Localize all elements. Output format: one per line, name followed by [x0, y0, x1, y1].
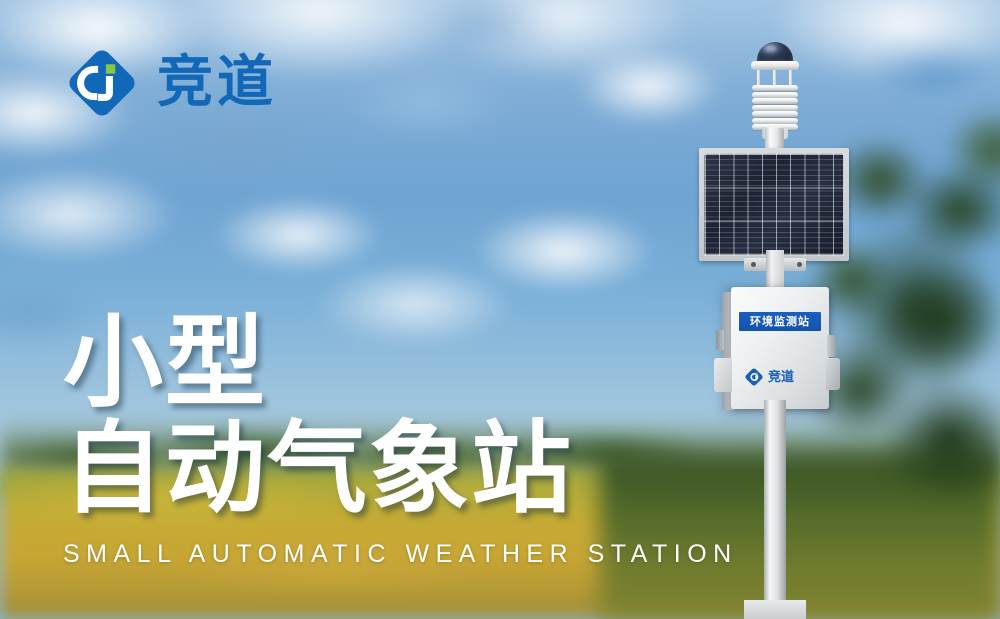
control-enclosure [731, 287, 829, 409]
enclosure-bracket-right [826, 358, 840, 390]
sensor-rim [751, 61, 799, 70]
enclosure-label-banner: 环境监测站 [739, 312, 821, 331]
sensor-post [773, 70, 776, 86]
enclosure-brand-logo: 竞道 [744, 366, 816, 388]
jingdao-diamond-logo-icon [744, 367, 764, 387]
product-banner: 环境监测站 竞道 竞道 小型 [0, 0, 1000, 619]
enclosure-latch-right [827, 335, 836, 357]
mount-bolt [751, 262, 756, 267]
enclosure-latch-left [716, 330, 724, 350]
headline-block: 小型 自动气象站 [63, 310, 573, 522]
enclosure-brand-text: 竞道 [768, 371, 794, 384]
jingdao-diamond-logo-icon [63, 44, 141, 122]
headline-line-1: 小型 [63, 310, 573, 416]
brand-logo[interactable]: 竞道 [63, 44, 277, 122]
sensor-post [789, 70, 792, 86]
mount-bolt [797, 262, 802, 267]
enclosure-bracket-left [714, 358, 732, 392]
enclosure-label-text: 环境监测站 [750, 316, 810, 327]
brand-name: 竞道 [157, 55, 277, 111]
headline-line-2: 自动气象站 [63, 416, 573, 522]
dome-highlight [764, 45, 777, 52]
solar-panel-icon [699, 148, 849, 261]
sensor-post [757, 70, 760, 86]
main-pole-icon [764, 400, 786, 619]
pole-base [744, 600, 806, 619]
radiation-shield-icon [752, 85, 798, 129]
subtitle-text: SMALL AUTOMATIC WEATHER STATION [63, 540, 738, 569]
solar-cells [704, 153, 844, 256]
